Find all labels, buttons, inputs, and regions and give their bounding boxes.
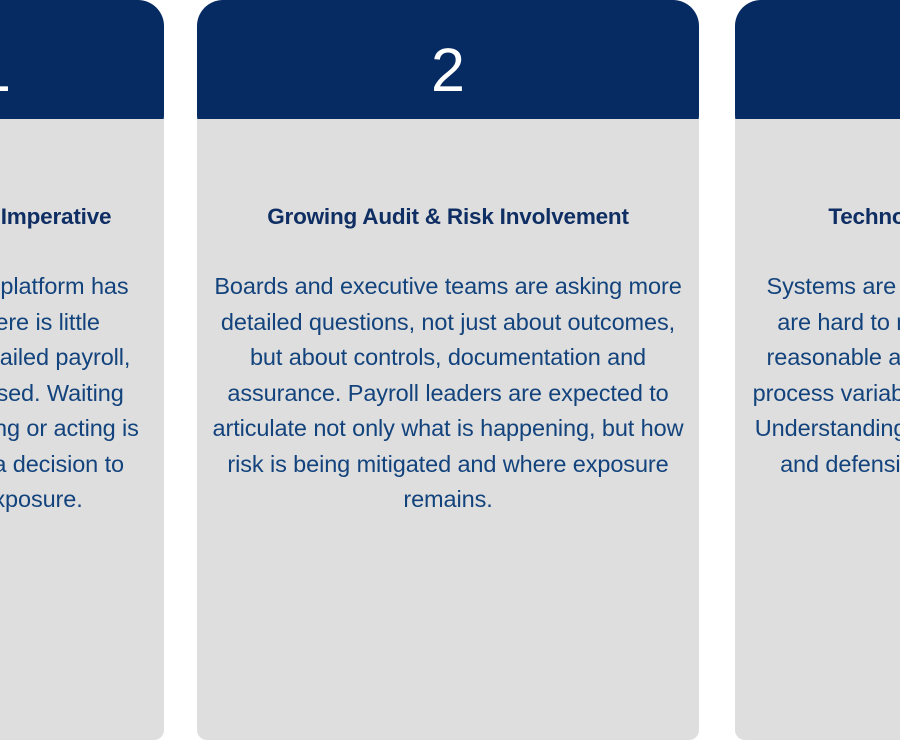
card-2-title: Growing Audit & Risk Involvement (197, 203, 699, 231)
card-3-title-spacer (735, 231, 900, 269)
card-3-body: Technology & Process Reality Systems are… (735, 119, 900, 740)
card-3-text: Systems are complex and manual controls … (735, 269, 900, 518)
card-1-title-spacer (0, 231, 164, 269)
card-2-title-spacer (197, 231, 699, 269)
card-2-number: 2 (431, 40, 465, 101)
card-2-body: Growing Audit & Risk Involvement Boards … (197, 119, 699, 740)
card-3-title: Technology & Process Reality (735, 203, 900, 231)
info-card-1: 1 Leadership Imperative Every payroll pl… (0, 0, 164, 740)
card-2-text: Boards and executive teams are asking mo… (197, 269, 699, 518)
card-1-body: Leadership Imperative Every payroll plat… (0, 119, 164, 740)
card-1-number: 1 (0, 40, 11, 101)
info-card-3: 3 Technology & Process Reality Systems a… (735, 0, 900, 740)
card-1-text: Every payroll platform has risk, but the… (0, 269, 164, 518)
info-card-2: 2 Growing Audit & Risk Involvement Board… (197, 0, 699, 740)
slide-canvas: 1 Leadership Imperative Every payroll pl… (0, 0, 900, 750)
card-1-title: Leadership Imperative (0, 203, 164, 231)
